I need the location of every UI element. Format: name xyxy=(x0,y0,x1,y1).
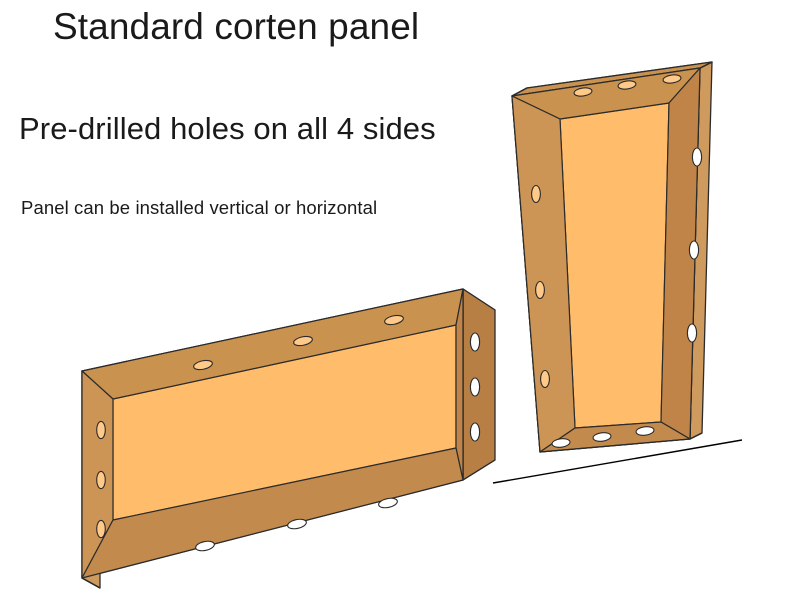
panel-drawing-svg xyxy=(0,0,800,600)
hole-right-3 xyxy=(687,324,696,342)
hole-right-1 xyxy=(692,148,701,166)
hole-right-2 xyxy=(470,378,479,396)
hole-right-3 xyxy=(470,423,479,441)
hole-left-1 xyxy=(532,186,541,203)
hole-right-2 xyxy=(689,241,698,259)
hole-left-3 xyxy=(541,371,550,388)
hole-left-2 xyxy=(536,282,545,299)
vertical-panel-inner-face xyxy=(560,103,669,428)
vertical-panel xyxy=(512,62,712,452)
hole-left-3 xyxy=(97,520,106,537)
corten-panel-illustration xyxy=(0,0,800,600)
hole-left-1 xyxy=(97,421,106,438)
ground-line-group xyxy=(493,440,742,483)
horizontal-panel-right-holes xyxy=(470,333,479,441)
slide-canvas: Standard corten panel Pre-drilled holes … xyxy=(0,0,800,600)
horizontal-panel xyxy=(82,289,495,588)
ground-line xyxy=(493,440,742,483)
hole-right-1 xyxy=(470,333,479,351)
hole-left-2 xyxy=(97,471,106,488)
